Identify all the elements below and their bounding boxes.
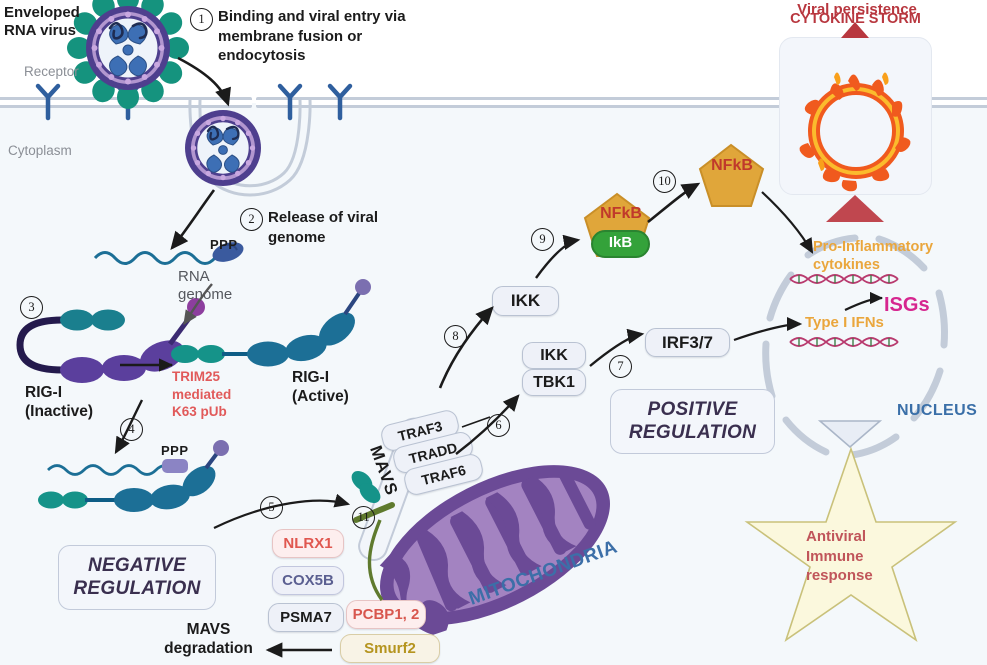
pathway-arrows — [0, 0, 987, 665]
pathway-figure: MAVS MITOCHONDRIA TRAF3 TRADD TRAF6 IKK … — [0, 0, 987, 665]
